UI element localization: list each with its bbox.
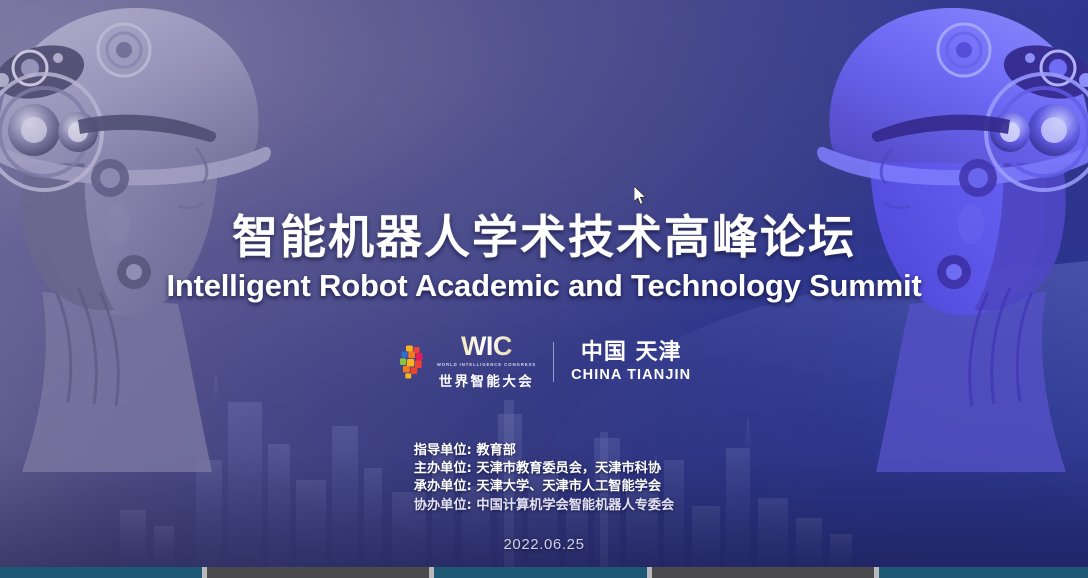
organizer-line: 指导单位: 教育部	[414, 442, 516, 460]
host-city-chinese: 中国 天津	[581, 341, 682, 365]
wic-wordmark: WIC WORLD INTELLIGENCE CONGRESS 世界智能大会	[437, 334, 536, 390]
wic-head-mark-icon	[397, 344, 430, 380]
organizer-line: 协办单位: 中国计算机学会智能机器人专委会	[414, 497, 674, 515]
progress-segment-empty[interactable]	[207, 567, 429, 578]
organizer-line: 主办单位: 天津市教育委员会，天津市科协	[414, 460, 661, 478]
wic-word: WIC	[461, 334, 512, 360]
progress-segment-filled[interactable]	[879, 567, 1088, 578]
progress-segment-filled[interactable]	[434, 567, 647, 578]
host-city-logo: 中国 天津 CHINA TIANJIN	[571, 341, 691, 383]
event-date: 2022.06.25	[503, 536, 584, 553]
progress-segment-empty[interactable]	[652, 567, 874, 578]
wic-logo: WIC WORLD INTELLIGENCE CONGRESS 世界智能大会	[397, 334, 536, 390]
page-title-chinese: 智能机器人学术技术高峰论坛	[232, 213, 856, 261]
organizer-line: 承办单位: 天津大学、天津市人工智能学会	[414, 478, 661, 496]
wic-chinese-name: 世界智能大会	[439, 370, 534, 390]
logo-divider	[553, 342, 554, 382]
logo-lockup: WIC WORLD INTELLIGENCE CONGRESS 世界智能大会 中…	[397, 334, 691, 390]
host-city-english: CHINA TIANJIN	[571, 367, 691, 383]
page-title-english: Intelligent Robot Academic and Technolog…	[166, 268, 921, 304]
slide-content: 智能机器人学术技术高峰论坛 Intelligent Robot Academic…	[0, 0, 1088, 578]
video-frame: 智能机器人学术技术高峰论坛 Intelligent Robot Academic…	[0, 0, 1088, 578]
arrow-cursor	[634, 186, 648, 206]
progress-segment-filled[interactable]	[0, 567, 202, 578]
video-progress-bar[interactable]	[0, 567, 1088, 578]
organizers-list: 指导单位: 教育部 主办单位: 天津市教育委员会，天津市科协 承办单位: 天津大…	[414, 442, 674, 515]
wic-subtitle: WORLD INTELLIGENCE CONGRESS	[437, 362, 536, 367]
